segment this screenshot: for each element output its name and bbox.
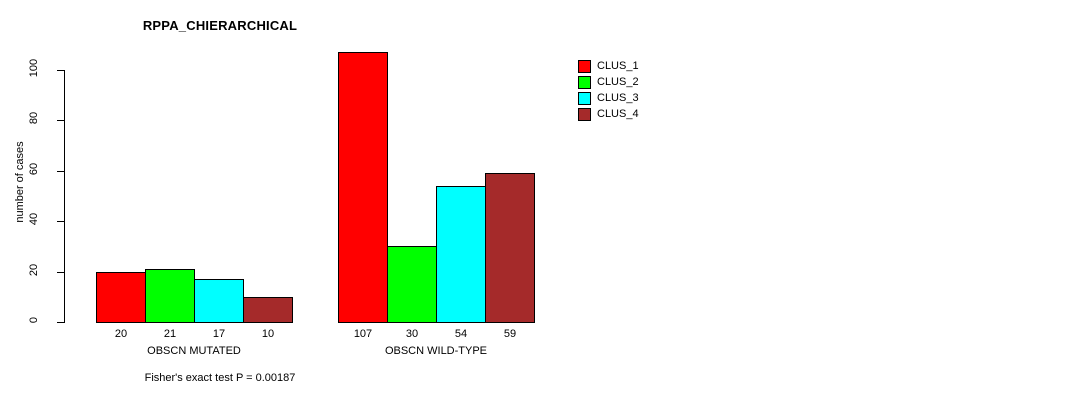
bar-clus_2: [387, 246, 437, 323]
bar-value-label: 10: [243, 328, 293, 340]
bar-clus_1: [96, 272, 146, 323]
y-axis-tick: [57, 171, 64, 172]
y-axis-line: [64, 70, 65, 323]
bar-value-label: 21: [145, 328, 195, 340]
y-axis-tick-label: 40: [28, 199, 40, 239]
x-axis-group-label: OBSCN MUTATED: [96, 345, 292, 357]
bar-clus_2: [145, 269, 195, 323]
y-axis-tick-label: 80: [28, 98, 40, 138]
y-axis-tick: [57, 221, 64, 222]
legend-swatch-icon: [578, 108, 591, 121]
bar-value-label: 20: [96, 328, 146, 340]
y-axis-tick-label: 60: [28, 149, 40, 189]
legend-item-label: CLUS_3: [597, 92, 639, 104]
bar-value-label: 59: [485, 328, 535, 340]
y-axis-tick-label: 20: [28, 250, 40, 290]
legend-item: CLUS_1: [578, 58, 639, 74]
y-axis-tick: [57, 120, 64, 121]
y-axis-tick-label: 100: [28, 48, 40, 88]
legend-swatch-icon: [578, 76, 591, 89]
bar-clus_3: [194, 279, 244, 323]
chart-canvas: RPPA_CHIERARCHICAL 020406080100 number o…: [0, 0, 1090, 400]
bar-clus_1: [338, 52, 388, 323]
legend-swatch-icon: [578, 60, 591, 73]
y-axis-tick: [57, 70, 64, 71]
bar-clus_4: [243, 297, 293, 323]
bar-clus_4: [485, 173, 535, 323]
statistical-annotation: Fisher's exact test P = 0.00187: [0, 372, 765, 384]
x-axis-group-label: OBSCN WILD-TYPE: [338, 345, 534, 357]
chart-title: RPPA_CHIERARCHICAL: [0, 18, 765, 33]
y-axis-title: number of cases: [14, 132, 26, 232]
y-axis-tick: [57, 322, 64, 323]
legend-item: CLUS_2: [578, 74, 639, 90]
legend-item-label: CLUS_1: [597, 60, 639, 72]
legend-item: CLUS_4: [578, 106, 639, 122]
legend-swatch-icon: [578, 92, 591, 105]
legend-item: CLUS_3: [578, 90, 639, 106]
bar-value-label: 17: [194, 328, 244, 340]
y-axis-tick: [57, 272, 64, 273]
y-axis-tick-label: 0: [28, 300, 40, 340]
bar-value-label: 30: [387, 328, 437, 340]
chart-legend: CLUS_1CLUS_2CLUS_3CLUS_4: [578, 58, 639, 122]
legend-item-label: CLUS_4: [597, 108, 639, 120]
bar-value-label: 107: [338, 328, 388, 340]
bar-clus_3: [436, 186, 486, 323]
legend-item-label: CLUS_2: [597, 76, 639, 88]
bar-value-label: 54: [436, 328, 486, 340]
